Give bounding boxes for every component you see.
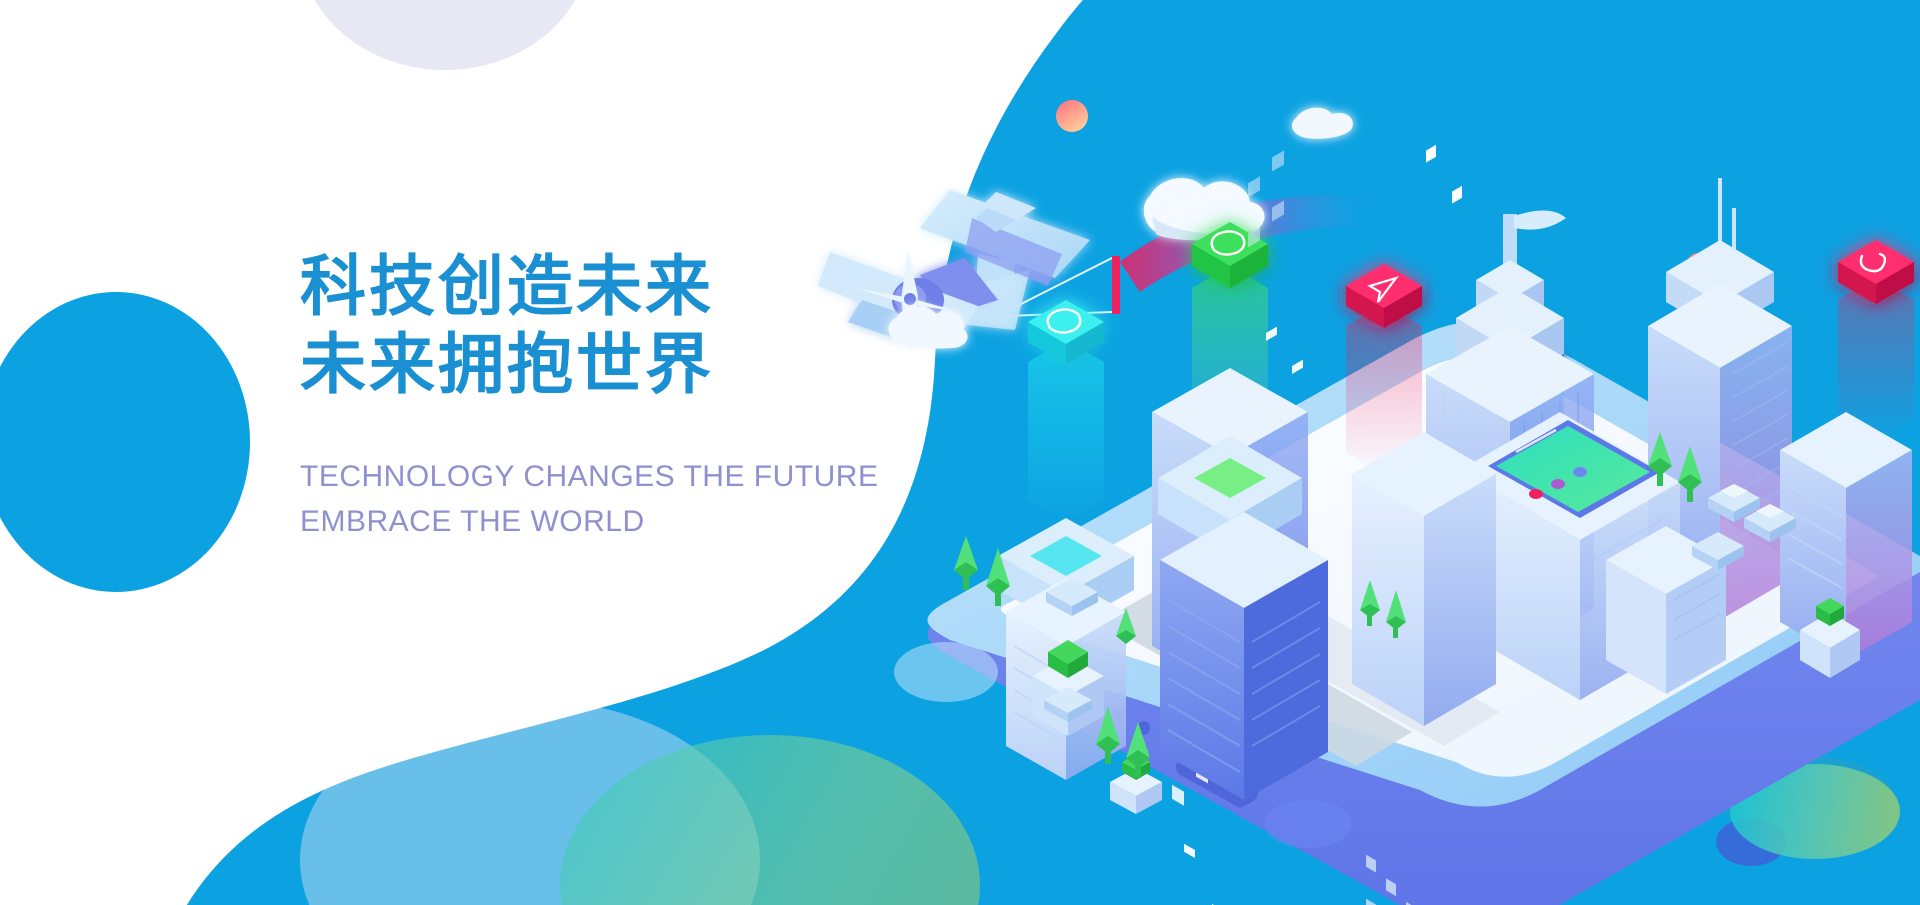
sphere-coral-top — [1056, 100, 1088, 132]
home-indicator — [1264, 800, 1352, 848]
cloud-tiny — [1292, 108, 1353, 139]
banner-stage: 科技创造未来 未来拥抱世界 TECHNOLOGY CHANGES THE FUT… — [0, 0, 1920, 905]
beacon-phone — [1838, 240, 1914, 442]
beacon-cyan — [1028, 300, 1104, 522]
flag-icon — [1514, 210, 1566, 229]
cloud-large — [1144, 178, 1265, 240]
city-illustration — [800, 0, 1920, 905]
camera-lens — [894, 642, 998, 702]
